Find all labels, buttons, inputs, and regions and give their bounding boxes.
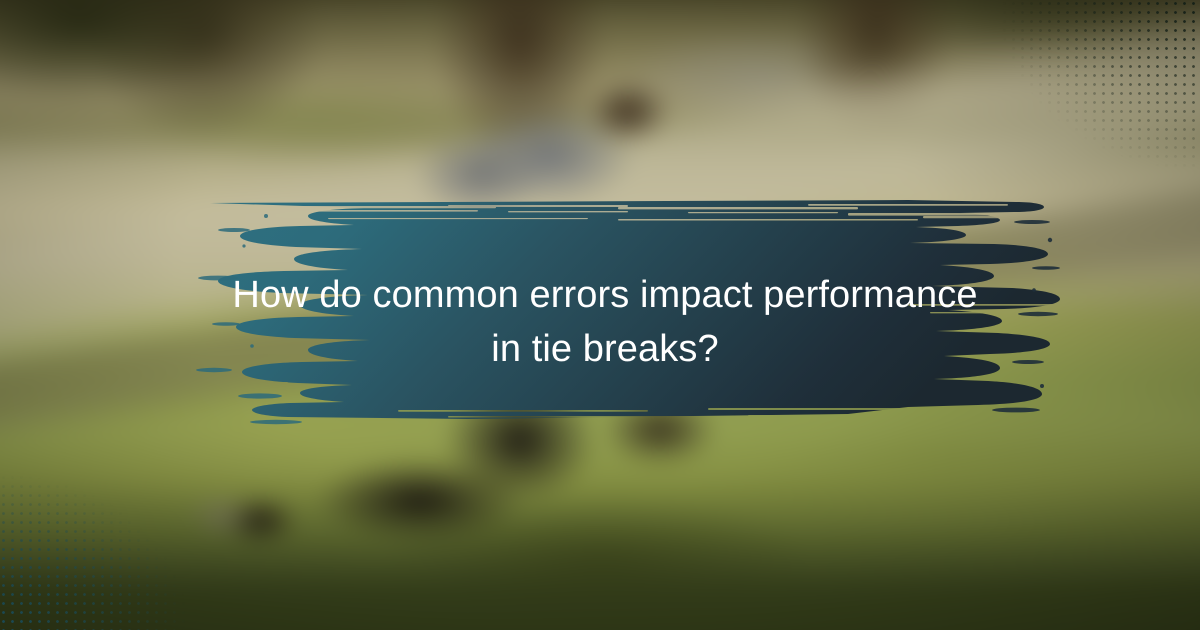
halftone-dots-bottom-left bbox=[0, 410, 290, 630]
question-banner-card: How do common errors impact performance … bbox=[0, 0, 1200, 630]
headline-text: How do common errors impact performance … bbox=[190, 268, 1020, 376]
